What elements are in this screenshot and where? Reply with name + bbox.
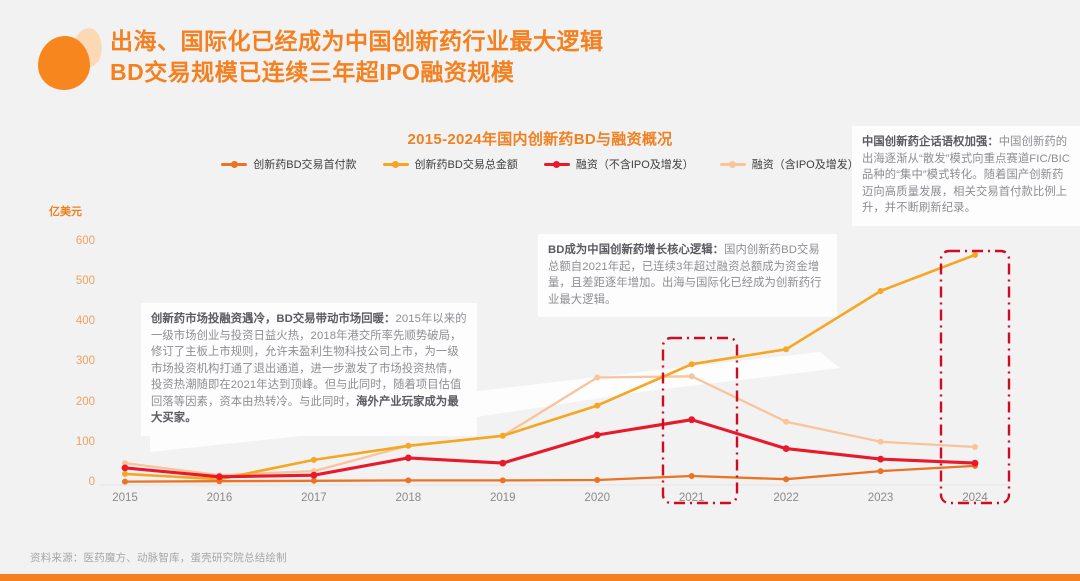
series-point [878,468,884,474]
series-point [216,476,222,482]
series-point [594,477,600,483]
x-tick-label: 2022 [751,492,821,504]
series-point [216,472,222,478]
y-tick-label: 100 [49,436,95,448]
series-point [783,346,789,352]
x-tick-label: 2017 [279,492,349,504]
series-point [122,471,128,477]
annotation-card-right: 中国创新药企话语权加强：中国创新药的出海逐渐从“散发”模式向重点赛道FIC/BI… [852,126,1080,226]
y-tick-label: 300 [49,355,95,367]
series-point [122,479,128,485]
series-point [972,463,978,469]
series-point [688,416,695,423]
series-point [216,478,222,484]
y-tick-label: 200 [49,396,95,408]
series-point [311,457,317,463]
series-point [122,460,128,466]
x-tick-label: 2019 [468,492,538,504]
highlight-box-2021 [663,338,737,503]
series-point [405,455,412,462]
y-axis-unit-label: 亿美元 [49,203,82,219]
series-point [594,403,600,409]
footer-accent-bar [0,574,1080,581]
series-point [311,472,318,479]
series-point [499,460,506,467]
series-point [878,439,884,445]
series-point [877,456,884,463]
series-point [311,468,317,474]
series-point [405,477,411,483]
series-point [783,419,789,425]
series-point [500,433,506,439]
series-point [972,444,978,450]
series-point [311,478,317,484]
x-tick-label: 2018 [373,492,443,504]
series-point [122,465,129,472]
series-point [594,432,601,439]
series-point [500,433,506,439]
annotation-middle-heading: BD成为中国创新药增长核心逻辑： [548,244,724,256]
series-point [594,375,600,381]
series-point [972,252,978,258]
x-tick-label: 2023 [846,492,916,504]
x-tick-label: 2015 [90,492,160,504]
x-tick-label: 2024 [940,492,1010,504]
series-point [500,477,506,483]
series-point [405,443,411,449]
annotation-card-middle: BD成为中国创新药增长核心逻辑：国内创新药BD交易总额自2021年起，已连续3年… [538,234,837,317]
series-point [878,288,884,294]
series-point [405,443,411,449]
y-tick-label: 400 [49,315,95,327]
y-tick-label: 600 [49,235,95,247]
slide-root: 出海、国际化已经成为中国创新药行业最大逻辑 BD交易规模已连续三年超IPO融资规… [0,0,1080,581]
annotation-left-heading: 创新药市场投融资遇冷，BD交易带动市场回暖： [151,313,395,325]
highlight-box-2024 [941,251,1009,503]
source-note: 资料来源：医药魔方、动脉智库，蛋壳研究院总结绘制 [30,550,287,565]
y-tick-label: 0 [49,476,95,488]
x-tick-label: 2016 [184,492,254,504]
series-point [783,476,789,482]
annotation-left-body: 2015年以来的一级市场创业与投资日益火热，2018年港交所率先顺势破局，修订了… [151,313,467,408]
series-point [783,445,790,452]
series-point [689,373,695,379]
annotation-right-heading: 中国创新药企话语权加强： [862,136,999,148]
series-line [125,466,975,482]
series-point [689,361,695,367]
series-point [972,460,979,467]
series-point [689,473,695,479]
annotation-card-left: 创新药市场投融资遇冷，BD交易带动市场回暖：2015年以来的一级市场创业与投资日… [141,303,477,436]
x-tick-label: 2021 [657,492,727,504]
series-point [216,473,223,480]
x-tick-label: 2020 [562,492,632,504]
y-tick-label: 500 [49,275,95,287]
